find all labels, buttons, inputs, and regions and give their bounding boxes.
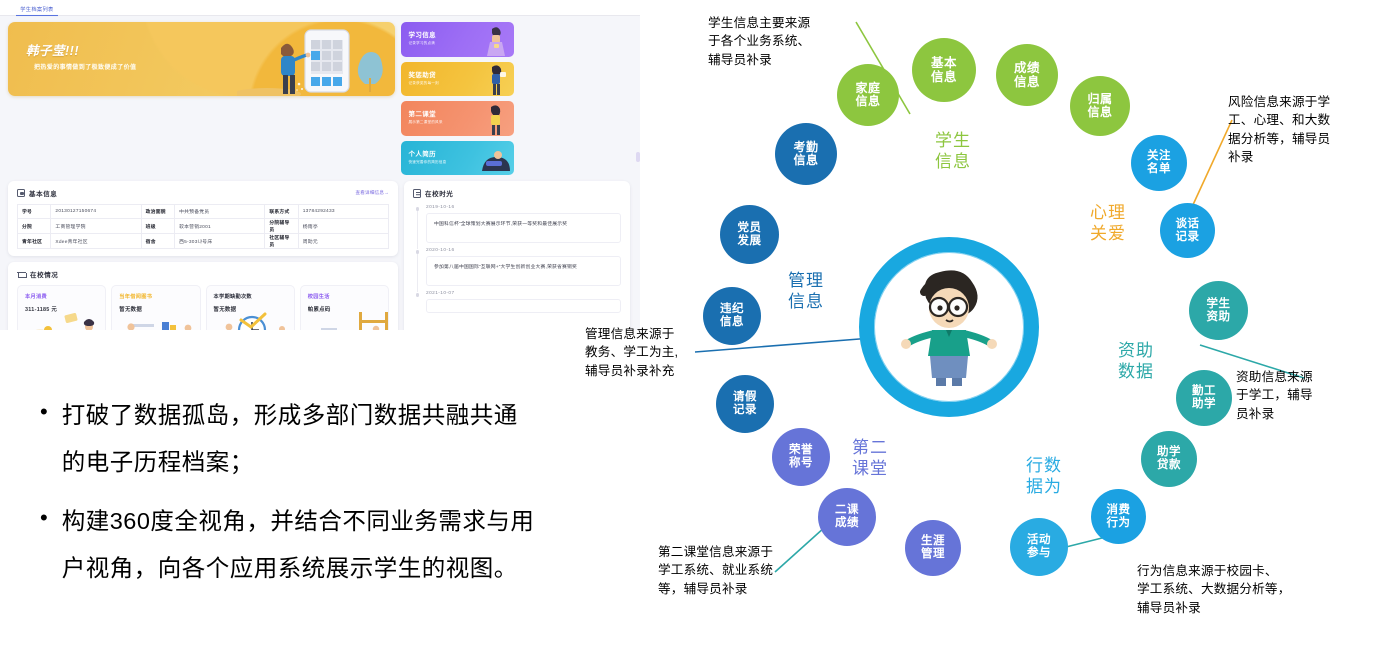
bank-icon bbox=[17, 270, 26, 278]
group-label-student-info: 学生 信息 bbox=[935, 130, 971, 173]
student-walk-icon bbox=[478, 102, 512, 136]
list-item[interactable]: 2019-10-16 中国科信杯”全球策划大赛展示环节,荣获一等奖和最佳展示奖 bbox=[413, 205, 621, 243]
node-family-info[interactable]: 家庭 信息 bbox=[837, 64, 899, 126]
student-avatar bbox=[874, 252, 1024, 402]
stat-title: 本月消费 bbox=[25, 293, 47, 300]
books-icon bbox=[112, 308, 200, 330]
hero-slogan: 把热爱的事情做到了极致便成了价值 bbox=[34, 62, 136, 71]
list-item[interactable]: 2021-10-07 bbox=[413, 291, 621, 313]
field-label: 学号 bbox=[18, 205, 51, 219]
app-body: 韩子莹!!! 把热爱的事情做到了极致便成了价值 bbox=[0, 16, 640, 330]
field-value: 13784292433 bbox=[298, 205, 388, 219]
stat-card-campus-life[interactable]: 校园生活 帕累点码 bbox=[300, 285, 389, 330]
note-behavior-info: 行为信息来源于校园卡、 学工系统、大数据分析等， 辅导员补录 bbox=[1137, 562, 1291, 617]
node-attendance-info[interactable]: 考勤 信息 bbox=[775, 123, 837, 185]
field-label: 社区辅导员 bbox=[265, 234, 298, 249]
bullet-marker: • bbox=[40, 392, 48, 486]
stat-card-books-borrowed[interactable]: 当年借阅图书 暂无数据 bbox=[111, 285, 200, 330]
field-value: Xdee青年社区 bbox=[51, 234, 141, 249]
note-student-info: 学生信息主要来源 于各个业务系统、 辅导员补录 bbox=[708, 14, 810, 69]
right-column: 在校时光 2019-10-16 中国科信杯”全球策划大赛展示环节,荣获一等奖和最… bbox=[404, 181, 630, 330]
clock-icon bbox=[207, 308, 295, 330]
group-label-management-info: 管理 信息 bbox=[788, 270, 824, 313]
tab-student-archive-list[interactable]: 学生档案列表 bbox=[16, 5, 58, 15]
bullet-line: 的电子历程档案； bbox=[62, 439, 518, 486]
table-row: 学号 20130127150674 政治面貌 中共预备党员 联系方式 13784… bbox=[18, 205, 389, 219]
student-data-radial-diagram: 学生 信息 心理 关爱 资助 数据 行数 据为 第二 课堂 管理 信息 考勤 信… bbox=[640, 0, 1378, 665]
quick-card-title: 个人简历 bbox=[408, 148, 436, 158]
field-value: 20130127150674 bbox=[51, 205, 141, 219]
hero-banner: 韩子莹!!! 把热爱的事情做到了极致便成了价值 bbox=[8, 22, 395, 96]
timeline-card bbox=[426, 299, 621, 313]
timeline-text: 参加第八届中国国际“互联网+”大学生创新创业大赛,荣获省赛铜奖 bbox=[434, 263, 613, 272]
timeline-card: 中国科信杯”全球策划大赛展示环节,荣获一等奖和最佳展示奖 bbox=[426, 213, 621, 243]
quick-card-title: 第二课堂 bbox=[408, 108, 436, 118]
table-row: 分院 工商管理学院 班级 软本营销2001 分院辅导员 杨雨亭 bbox=[18, 219, 389, 234]
quick-card-awards-loans[interactable]: 奖惩助贷 记录获奖的每一刻 bbox=[401, 62, 514, 97]
node-honor-title[interactable]: 荣誉 称号 bbox=[772, 428, 830, 486]
bullet-marker: • bbox=[40, 498, 48, 592]
node-grade-info[interactable]: 成绩 信息 bbox=[996, 44, 1058, 106]
note-aid-info: 资助信息来源 于学工，辅导 员补录 bbox=[1236, 368, 1313, 423]
node-discipline-info[interactable]: 违纪 信息 bbox=[703, 287, 761, 345]
table-row: 青年社区 Xdee青年社区 宿舍 西5-303냐号床 社区辅导员 周劭元 bbox=[18, 234, 389, 249]
campus-status-cards: 本月消费 311-1185 元 bbox=[17, 285, 389, 330]
timeline-date: 2021-10-07 bbox=[426, 291, 621, 296]
node-party-member-development[interactable]: 党员 发展 bbox=[720, 205, 779, 264]
basic-info-panel: 基本信息 查看详细信息→ 学号 20130127150674 政治面貌 中共预备… bbox=[8, 181, 398, 256]
timeline-date: 2019-10-16 bbox=[426, 205, 621, 210]
list-item[interactable]: 2020-10-16 参加第八届中国国际“互联网+”大学生创新创业大赛,荣获省赛… bbox=[413, 248, 621, 286]
field-label: 政治面貌 bbox=[141, 205, 174, 219]
quick-card-learning-info[interactable]: 学习信息 记录学习的点滴 bbox=[401, 22, 514, 57]
bullet-line: 打破了数据孤岛，形成多部门数据共融共通 bbox=[62, 392, 518, 439]
node-career-management[interactable]: 生涯 管理 bbox=[905, 520, 961, 576]
quick-entry-cards: 学习信息 记录学习的点滴 奖惩助贷 记录获奖的每一刻 bbox=[401, 22, 632, 175]
timeline-text: 中国科信杯”全球策划大赛展示环节,荣获一等奖和最佳展示奖 bbox=[434, 220, 613, 229]
stat-card-absence-count[interactable]: 本学期缺勤次数 暂无数据 bbox=[206, 285, 295, 330]
quick-card-title: 学习信息 bbox=[408, 29, 436, 39]
center-ring bbox=[859, 237, 1039, 417]
campus-status-title: 在校情况 bbox=[30, 269, 58, 279]
timeline-date: 2020-10-16 bbox=[426, 248, 621, 253]
field-label: 宿舍 bbox=[141, 234, 174, 249]
bullet-line: 户视角，向各个应用系统展示学生的视图。 bbox=[62, 545, 535, 592]
stat-card-monthly-spend[interactable]: 本月消费 311-1185 元 bbox=[17, 285, 106, 330]
field-label: 联系方式 bbox=[265, 205, 298, 219]
note-risk-info: 风险信息来源于学 工、心理、和大数 据分析等，辅导员 补录 bbox=[1228, 93, 1330, 166]
quick-card-subtitle: 快速完善你的简历信息 bbox=[408, 160, 446, 165]
node-student-aid[interactable]: 学生 资助 bbox=[1189, 281, 1248, 340]
group-label-psychology-care: 心理 关爱 bbox=[1090, 202, 1126, 245]
slide-canvas: 学生档案列表 韩子莹!!! 把热爱的事情做到了极致便成了价值 bbox=[0, 0, 1378, 665]
field-label: 分院辅导员 bbox=[265, 219, 298, 234]
campus-status-panel: 在校情况 本月消费 311-1185 元 bbox=[8, 262, 398, 330]
id-card-icon bbox=[17, 189, 25, 197]
node-leave-record[interactable]: 请假 记录 bbox=[716, 375, 774, 433]
basic-info-header: 基本信息 查看详细信息→ bbox=[17, 188, 389, 198]
hero-student-name: 韩子莹!!! bbox=[26, 40, 79, 59]
hero-illustration-icon bbox=[237, 22, 387, 96]
group-label-aid-data: 资助 数据 bbox=[1118, 340, 1154, 383]
app-tabbar: 学生档案列表 bbox=[0, 0, 640, 16]
note-second-class-info: 第二课堂信息来源于 学工系统、就业系统 等，辅导员补录 bbox=[658, 543, 773, 598]
bullet-list: • 打破了数据孤岛，形成多部门数据共融共通 的电子历程档案； • 构建360度全… bbox=[40, 392, 640, 604]
list-item: • 打破了数据孤岛，形成多部门数据共融共通 的电子历程档案； bbox=[40, 392, 640, 486]
quick-card-subtitle: 展示第二课堂的风采 bbox=[408, 120, 442, 125]
node-affiliation-info[interactable]: 归属 信息 bbox=[1070, 76, 1130, 136]
timeline-title-group: 在校时光 bbox=[413, 188, 621, 198]
bullet-line: 构建360度全视角，并结合不同业务需求与用 bbox=[62, 498, 535, 545]
node-work-study[interactable]: 勤工 助学 bbox=[1176, 370, 1232, 426]
quick-card-subtitle: 记录学习的点滴 bbox=[408, 41, 435, 46]
timeline-panel: 在校时光 2019-10-16 中国科信杯”全球策划大赛展示环节,荣获一等奖和最… bbox=[404, 181, 630, 330]
node-student-loan[interactable]: 助学 贷款 bbox=[1141, 431, 1197, 487]
basic-info-table: 学号 20130127150674 政治面貌 中共预备党员 联系方式 13784… bbox=[17, 204, 389, 249]
field-label: 班级 bbox=[141, 219, 174, 234]
quick-card-resume[interactable]: 个人简历 快速完善你的简历信息 bbox=[401, 141, 514, 176]
stat-title: 当年借阅图书 bbox=[119, 293, 152, 300]
field-label: 分院 bbox=[18, 219, 51, 234]
node-activity-participation[interactable]: 活动 参与 bbox=[1010, 518, 1068, 576]
node-watch-list[interactable]: 关注 名单 bbox=[1131, 135, 1187, 191]
node-consumption-behavior[interactable]: 消费 行为 bbox=[1091, 489, 1146, 544]
content-row: 基本信息 查看详细信息→ 学号 20130127150674 政治面貌 中共预备… bbox=[8, 181, 632, 330]
campus-status-title-group: 在校情况 bbox=[17, 269, 389, 279]
list-item: • 构建360度全视角，并结合不同业务需求与用 户视角，向各个应用系统展示学生的… bbox=[40, 498, 640, 592]
node-second-class-score[interactable]: 二课 成绩 bbox=[818, 488, 876, 546]
basic-info-title: 基本信息 bbox=[29, 188, 57, 198]
coins-icon bbox=[18, 308, 106, 330]
timeline-title: 在校时光 bbox=[425, 188, 453, 198]
student-resume-icon bbox=[474, 141, 514, 175]
field-value: 中共预备党员 bbox=[175, 205, 265, 219]
quick-card-title: 奖惩助贷 bbox=[408, 69, 436, 79]
timeline-card: 参加第八届中国国际“互联网+”大学生创新创业大赛,荣获省赛铜奖 bbox=[426, 256, 621, 286]
group-label-behavior-data: 行数 据为 bbox=[1026, 455, 1062, 498]
student-girl-icon bbox=[478, 23, 512, 57]
student-profile-app-screenshot: 学生档案列表 韩子莹!!! 把热爱的事情做到了极致便成了价值 bbox=[0, 0, 640, 330]
view-detail-link[interactable]: 查看详细信息→ bbox=[355, 190, 389, 196]
field-value: 工商管理学院 bbox=[51, 219, 141, 234]
stat-title: 校园生活 bbox=[308, 293, 330, 300]
left-column: 基本信息 查看详细信息→ 学号 20130127150674 政治面貌 中共预备… bbox=[8, 181, 398, 330]
node-conversation-record[interactable]: 谈话 记录 bbox=[1160, 203, 1215, 258]
timeline-list: 2019-10-16 中国科信杯”全球策划大赛展示环节,荣获一等奖和最佳展示奖 … bbox=[413, 205, 621, 313]
node-basic-info[interactable]: 基本 信息 bbox=[912, 38, 976, 102]
field-value: 周劭元 bbox=[298, 234, 388, 249]
basic-info-title-group: 基本信息 bbox=[17, 188, 57, 198]
field-value: 软本营销2001 bbox=[175, 219, 265, 234]
hero-row: 韩子莹!!! 把热爱的事情做到了极致便成了价值 bbox=[8, 22, 632, 175]
field-value: 杨雨亭 bbox=[298, 219, 388, 234]
quick-card-subtitle: 记录获奖的每一刻 bbox=[408, 81, 438, 86]
stat-title: 本学期缺勤次数 bbox=[214, 293, 252, 300]
dorm-icon bbox=[301, 308, 389, 330]
field-label: 青年社区 bbox=[18, 234, 51, 249]
student-boy-icon bbox=[478, 62, 512, 96]
field-value: 西5-303냐号床 bbox=[175, 234, 265, 249]
quick-card-second-classroom[interactable]: 第二课堂 展示第二课堂的风采 bbox=[401, 101, 514, 136]
note-icon bbox=[413, 189, 421, 198]
group-label-second-classroom: 第二 课堂 bbox=[852, 437, 888, 480]
note-management-info: 管理信息来源于 教务、学工为主, 辅导员补录补充 bbox=[585, 325, 678, 380]
